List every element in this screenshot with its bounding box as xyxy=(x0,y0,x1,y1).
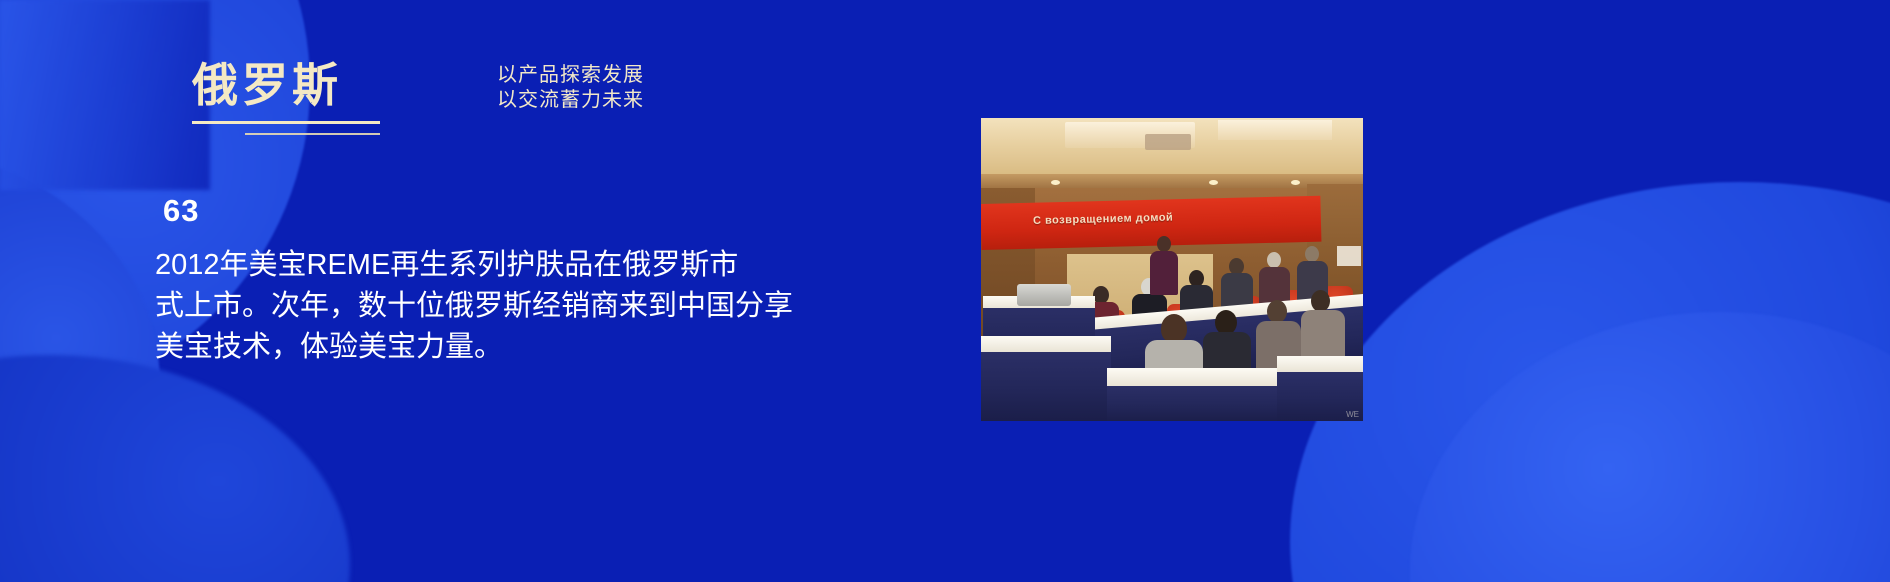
sequence-number: 63 xyxy=(163,193,199,229)
body-paragraph: 2012年美宝REME再生系列护肤品在俄罗斯市 式上市。次年，数十位俄罗斯经销商… xyxy=(155,245,875,368)
photo-front-table-top-3 xyxy=(1107,368,1283,388)
photo-downlight-2 xyxy=(1209,180,1218,185)
photo-front-table-skirt-3 xyxy=(1107,386,1283,421)
photo-person-body xyxy=(1150,251,1178,295)
photo-ceiling-vent xyxy=(1145,134,1191,150)
photo-person-head xyxy=(1311,290,1330,312)
title-underline-2 xyxy=(245,133,380,135)
photo-downlight-3 xyxy=(1291,180,1300,185)
decorative-blob-bottom-right-2 xyxy=(1410,312,1890,582)
photo-watermark: WE xyxy=(1346,410,1359,419)
photo-front-table-skirt-2 xyxy=(981,352,1111,421)
decorative-blob-bottom-left xyxy=(0,355,350,582)
page-title: 俄罗斯 xyxy=(192,62,342,108)
photo-exit-sign xyxy=(1337,246,1361,266)
photo-ceiling-panel-2 xyxy=(1218,120,1333,140)
slogan: 以产品探索发展 以交流蓄力未来 xyxy=(497,63,644,113)
body-line-1: 2012年美宝REME再生系列护肤品在俄罗斯市 xyxy=(155,245,875,286)
slogan-line-2: 以交流蓄力未来 xyxy=(497,88,644,113)
photo-person-head xyxy=(1161,314,1187,343)
photo-person-head xyxy=(1267,300,1287,323)
photo-person-head xyxy=(1305,246,1319,262)
photo-person-head xyxy=(1157,236,1171,252)
photo-downlight-1 xyxy=(1051,180,1060,185)
conference-photo: С возвращением домой xyxy=(981,118,1363,421)
photo-projector xyxy=(1017,284,1071,306)
decorative-blob-middle-left xyxy=(0,150,160,582)
decorative-blob-bottom-right xyxy=(1290,182,1890,582)
body-line-2: 式上市。次年，数十位俄罗斯经销商来到中国分享 xyxy=(155,286,875,327)
slide-header: 俄罗斯 以产品探索发展 以交流蓄力未来 xyxy=(0,0,1890,150)
slogan-line-1: 以产品探索发展 xyxy=(497,63,644,88)
photo-person-head xyxy=(1267,252,1281,268)
slide-canvas: 俄罗斯 以产品探索发展 以交流蓄力未来 63 2012年美宝REME再生系列护肤… xyxy=(0,0,1890,582)
title-underline xyxy=(192,121,380,124)
body-line-3: 美宝技术，体验美宝力量。 xyxy=(155,327,875,368)
